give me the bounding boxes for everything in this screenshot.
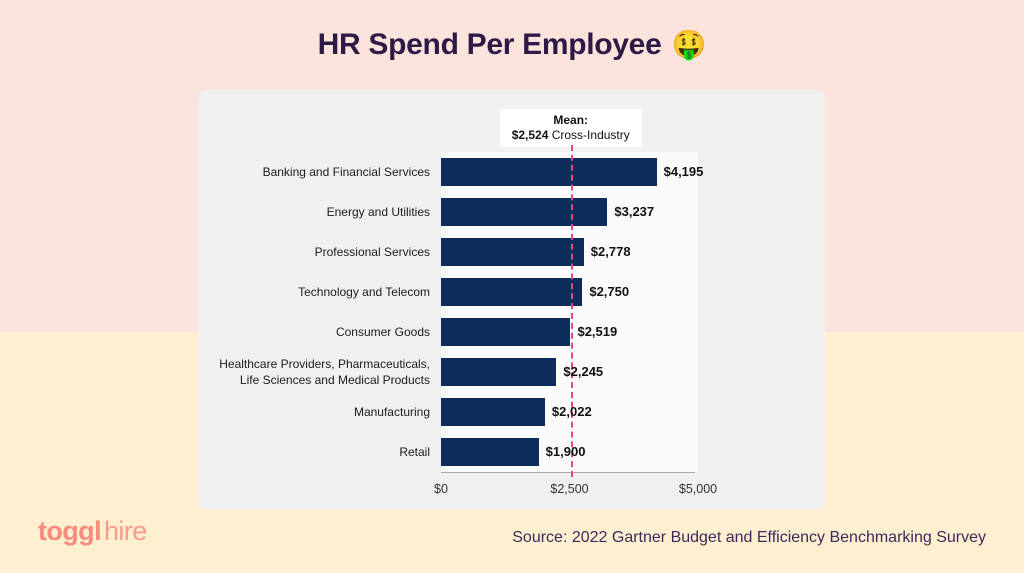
logo-hire-text: hire [104, 516, 147, 546]
money-mouth-face-icon: 🤑 [671, 31, 706, 59]
bar[interactable] [441, 238, 584, 266]
bar[interactable] [441, 438, 539, 466]
category-label-line: Retail [399, 444, 430, 460]
bar-value-label: $2,778 [591, 244, 631, 259]
bar-value-label: $4,195 [664, 164, 704, 179]
source-attribution: Source: 2022 Gartner Budget and Efficien… [512, 529, 986, 547]
category-label: Energy and Utilities [327, 204, 430, 220]
category-label-line: Energy and Utilities [327, 204, 430, 220]
page-title: HR Spend Per Employee 🤑 [0, 28, 1024, 62]
bar-value-label: $2,245 [563, 364, 603, 379]
category-axis-labels: Banking and Financial ServicesEnergy and… [198, 152, 430, 472]
bar-value-label: $2,750 [589, 284, 629, 299]
logo-toggl-text: toggl [38, 516, 101, 546]
mean-callout: Mean: $2,524 Cross-Industry [500, 109, 642, 147]
x-axis-tick-label: $5,000 [679, 482, 717, 496]
category-label-line: Manufacturing [354, 404, 430, 420]
x-axis-line [441, 472, 695, 473]
category-label-line: Professional Services [315, 244, 430, 260]
bar-value-label: $3,237 [614, 204, 654, 219]
bar-row [441, 312, 698, 352]
category-label: Consumer Goods [336, 324, 430, 340]
chart-panel: Mean: $2,524 Cross-Industry Banking and … [198, 90, 825, 510]
category-label: Manufacturing [354, 404, 430, 420]
category-label: Retail [399, 444, 430, 460]
category-label: Healthcare Providers, Pharmaceuticals,Li… [219, 356, 430, 388]
mean-callout-value-row: $2,524 Cross-Industry [512, 128, 630, 143]
bar[interactable] [441, 198, 607, 226]
bar-row [441, 152, 698, 192]
bar-row [441, 192, 698, 232]
mean-callout-title: Mean: [553, 113, 588, 128]
bar-value-label: $2,022 [552, 404, 592, 419]
category-label-line: Consumer Goods [336, 324, 430, 340]
bar[interactable] [441, 358, 556, 386]
bar-row [441, 272, 698, 312]
x-axis-tick-label: $0 [434, 482, 448, 496]
bar[interactable] [441, 398, 545, 426]
bar[interactable] [441, 158, 657, 186]
page-title-text: HR Spend Per Employee [318, 28, 662, 62]
category-label-line: Healthcare Providers, Pharmaceuticals, [219, 356, 430, 372]
mean-callout-suffix: Cross-Industry [548, 128, 629, 142]
x-axis-tick-label: $2,500 [550, 482, 588, 496]
bar[interactable] [441, 278, 582, 306]
mean-reference-line [571, 145, 573, 477]
category-label: Professional Services [315, 244, 430, 260]
category-label-line: Life Sciences and Medical Products [219, 372, 430, 388]
toggl-hire-logo[interactable]: togglhire [38, 516, 147, 547]
bar-value-label: $1,900 [546, 444, 586, 459]
bar[interactable] [441, 318, 570, 346]
bar-value-label: $2,519 [577, 324, 617, 339]
category-label-line: Banking and Financial Services [263, 164, 430, 180]
category-label: Technology and Telecom [298, 284, 430, 300]
bar-row [441, 232, 698, 272]
category-label-line: Technology and Telecom [298, 284, 430, 300]
mean-callout-value: $2,524 [512, 128, 549, 142]
category-label: Banking and Financial Services [263, 164, 430, 180]
plot-area [441, 152, 698, 472]
